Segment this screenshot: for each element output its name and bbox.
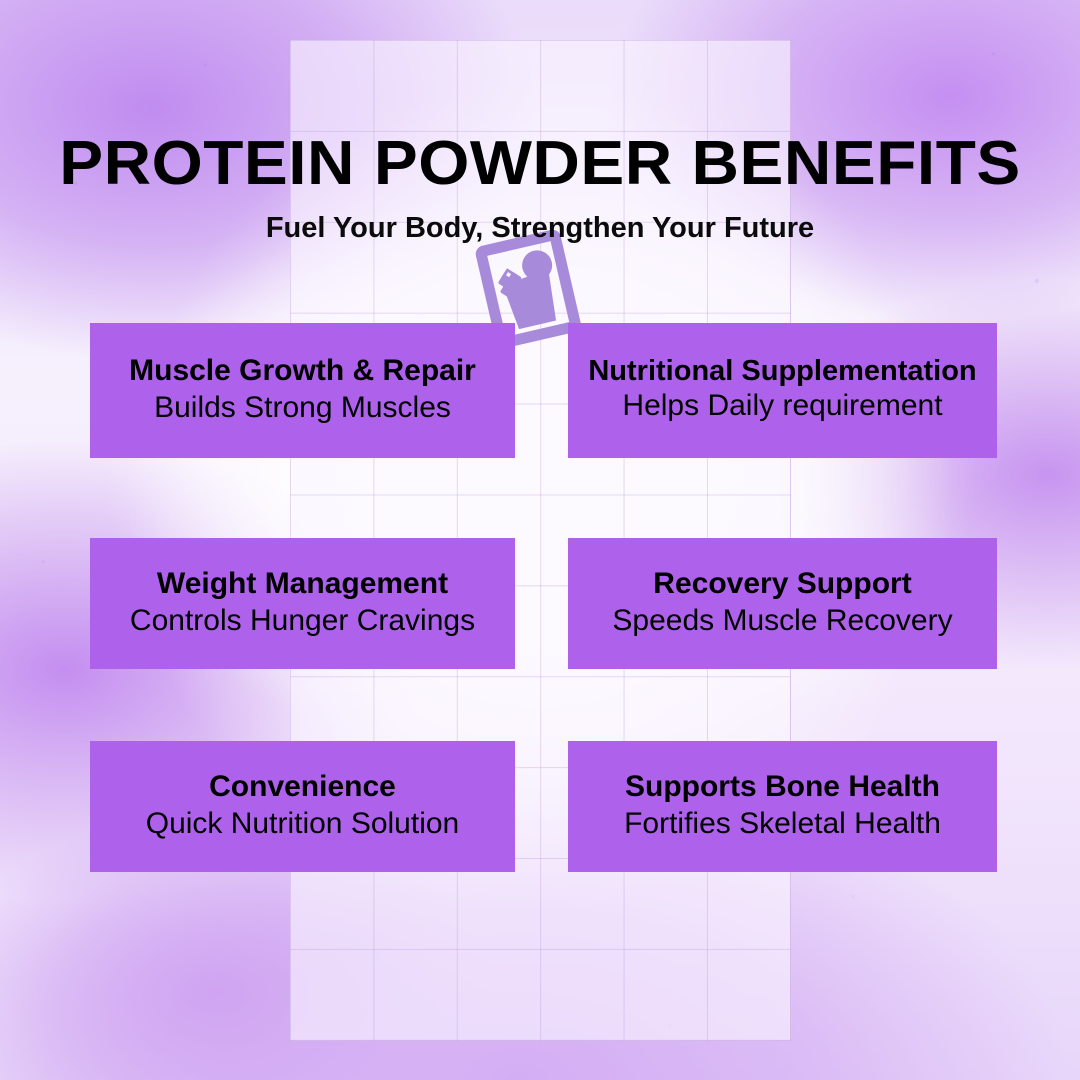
benefit-card-subtitle: Helps Daily requirement: [622, 389, 942, 424]
benefit-card-muscle-growth-repair[interactable]: Muscle Growth & Repair Builds Strong Mus…: [90, 323, 515, 458]
page-title: PROTEIN POWDER BENEFITS: [0, 132, 1080, 195]
poster-header: PROTEIN POWDER BENEFITS Fuel Your Body, …: [0, 132, 1080, 245]
benefit-card-subtitle: Quick Nutrition Solution: [146, 807, 459, 842]
benefit-card-title: Supports Bone Health: [625, 772, 940, 803]
benefit-card-subtitle: Speeds Muscle Recovery: [612, 604, 952, 639]
benefit-card-supports-bone-health[interactable]: Supports Bone Health Fortifies Skeletal …: [568, 741, 997, 872]
benefit-card-title: Convenience: [209, 772, 396, 803]
benefit-card-title: Nutritional Supplementation: [588, 357, 976, 385]
benefit-card-subtitle: Fortifies Skeletal Health: [624, 807, 941, 842]
benefit-card-grid: Muscle Growth & Repair Builds Strong Mus…: [90, 323, 997, 872]
page-subtitle: Fuel Your Body, Strengthen Your Future: [0, 212, 1080, 245]
benefit-card-title: Weight Management: [157, 569, 448, 600]
benefit-card-title: Muscle Growth & Repair: [129, 356, 476, 387]
benefit-card-subtitle: Controls Hunger Cravings: [130, 604, 475, 639]
benefit-card-subtitle: Builds Strong Muscles: [154, 391, 451, 426]
benefit-card-recovery-support[interactable]: Recovery Support Speeds Muscle Recovery: [568, 538, 997, 669]
benefit-card-convenience[interactable]: Convenience Quick Nutrition Solution: [90, 741, 515, 872]
benefit-card-title: Recovery Support: [653, 569, 911, 600]
benefit-card-weight-management[interactable]: Weight Management Controls Hunger Cravin…: [90, 538, 515, 669]
benefit-card-nutritional-supplementation[interactable]: Nutritional Supplementation Helps Daily …: [568, 323, 997, 458]
protein-powder-benefits-poster: PROTEIN POWDER BENEFITS Fuel Your Body, …: [0, 0, 1080, 1080]
